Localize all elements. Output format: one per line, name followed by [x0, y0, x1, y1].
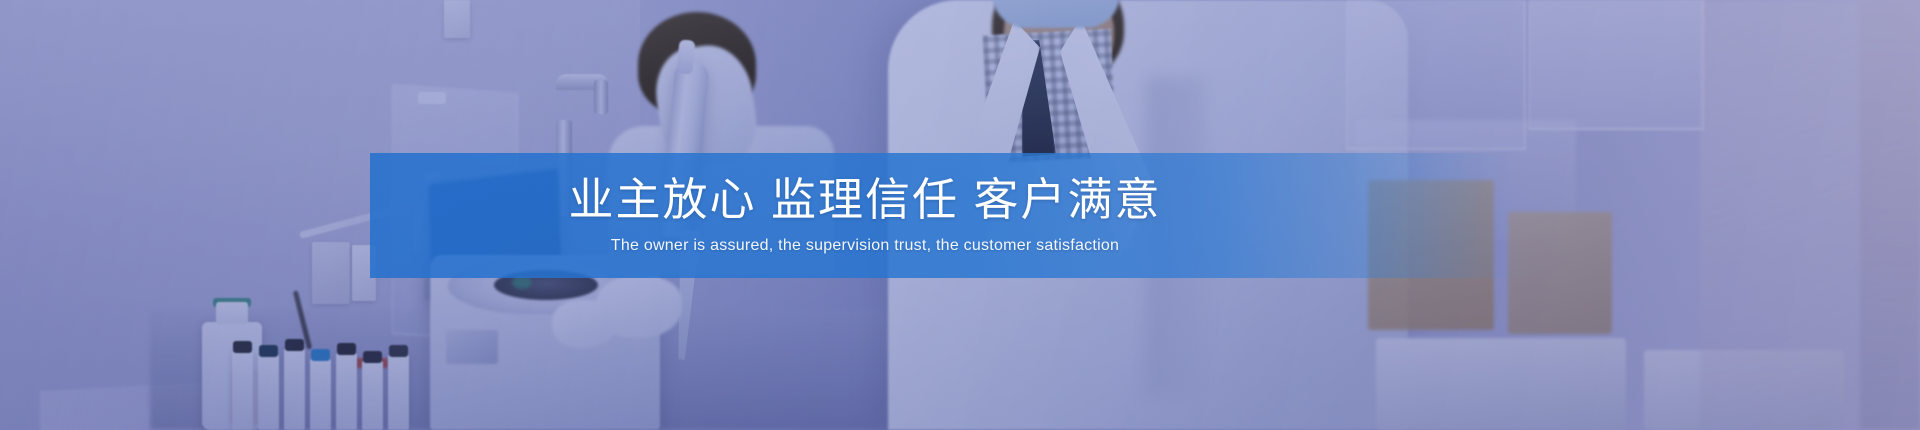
slogan-band: 业主放心 监理信任 客户满意 The owner is assured, the…: [370, 153, 1520, 278]
slogan-content: 业主放心 监理信任 客户满意 The owner is assured, the…: [370, 153, 1520, 278]
banner-headline: 业主放心 监理信任 客户满意: [568, 176, 1161, 225]
banner-subtitle: The owner is assured, the supervision tr…: [611, 237, 1119, 255]
hero-banner: 业主放心 监理信任 客户满意 The owner is assured, the…: [0, 0, 1920, 430]
